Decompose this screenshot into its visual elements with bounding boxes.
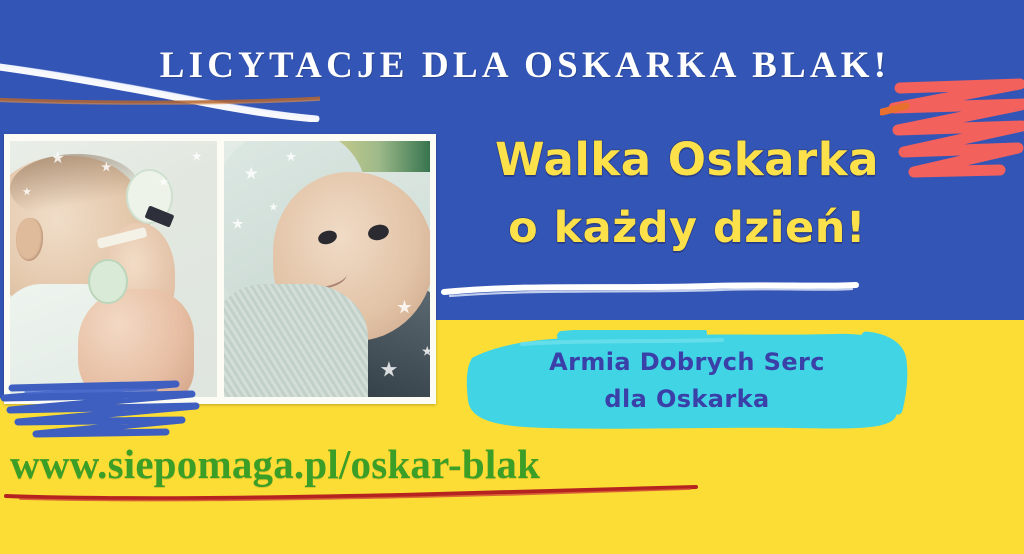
adult-hand-shape — [78, 289, 194, 397]
badge-line-1: Armia Dobrych Serc — [470, 344, 904, 381]
baby-hairline-shape — [10, 154, 138, 221]
badge-line-2: dla Oskarka — [470, 381, 904, 418]
poster: LICYTACJE DLA OSKARKA BLAK! — [0, 0, 1024, 554]
baby-clothing-shape — [224, 284, 369, 397]
photo-smiling-baby — [224, 141, 431, 397]
star-pattern-icon — [192, 151, 202, 161]
photo-row — [10, 141, 430, 397]
headline-line-2: o każdy dzień! — [452, 194, 922, 262]
headline: Walka Oskarka o każdy dzień! — [452, 126, 922, 262]
page-title: LICYTACJE DLA OSKARKA BLAK! — [0, 44, 1024, 87]
badge-text: Armia Dobrych Serc dla Oskarka — [470, 344, 904, 418]
pacifier-in-mouth-shape — [88, 259, 127, 304]
photo-sleeping-baby — [10, 141, 217, 397]
headline-line-1: Walka Oskarka — [495, 133, 879, 186]
campaign-url[interactable]: www.siepomaga.pl/oskar-blak — [10, 440, 540, 488]
photo-frame — [4, 134, 436, 404]
